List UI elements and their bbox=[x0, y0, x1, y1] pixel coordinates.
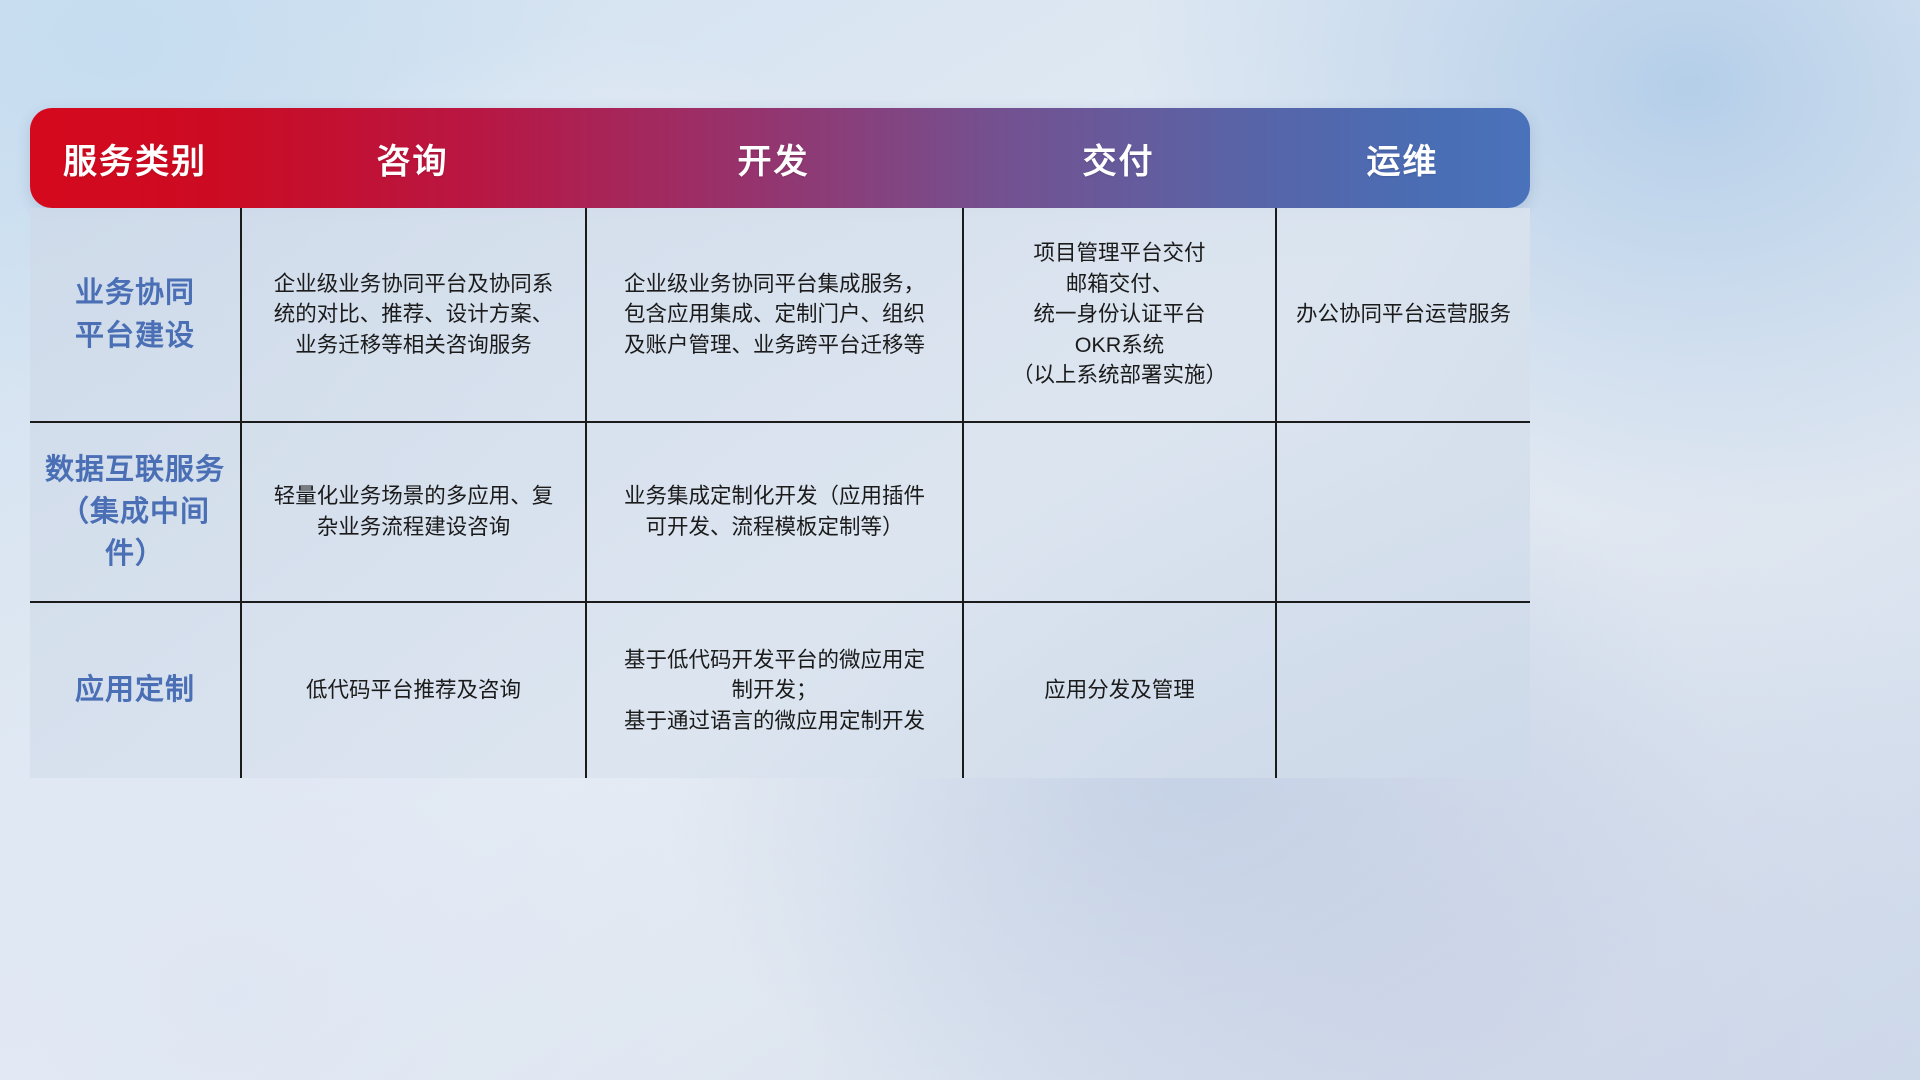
row-category-label: 应用定制 bbox=[30, 603, 240, 778]
cell-development: 企业级业务协同平台集成服务， 包含应用集成、定制门户、组织 及账户管理、业务跨平… bbox=[585, 208, 962, 421]
cell-delivery: 应用分发及管理 bbox=[962, 603, 1275, 778]
cell-delivery: 项目管理平台交付 邮箱交付、 统一身份认证平台 OKR系统 （以上系统部署实施） bbox=[962, 208, 1275, 421]
cell-delivery bbox=[962, 423, 1275, 601]
table-row: 数据互联服务 （集成中间件） 轻量化业务场景的多应用、复 杂业务流程建设咨询 业… bbox=[30, 421, 1530, 601]
column-header-delivery: 交付 bbox=[962, 108, 1275, 208]
table-header-row: 服务类别 咨询 开发 交付 运维 bbox=[30, 108, 1530, 208]
column-header-category: 服务类别 bbox=[30, 108, 240, 208]
table-body: 业务协同 平台建设 企业级业务协同平台及协同系 统的对比、推荐、设计方案、 业务… bbox=[30, 208, 1530, 778]
cell-consulting: 轻量化业务场景的多应用、复 杂业务流程建设咨询 bbox=[240, 423, 585, 601]
cell-consulting: 企业级业务协同平台及协同系 统的对比、推荐、设计方案、 业务迁移等相关咨询服务 bbox=[240, 208, 585, 421]
cell-operations: 办公协同平台运营服务 bbox=[1275, 208, 1530, 421]
table-row: 应用定制 低代码平台推荐及咨询 基于低代码开发平台的微应用定 制开发； 基于通过… bbox=[30, 601, 1530, 778]
cell-operations bbox=[1275, 603, 1530, 778]
cell-development: 业务集成定制化开发（应用插件 可开发、流程模板定制等） bbox=[585, 423, 962, 601]
column-header-consulting: 咨询 bbox=[240, 108, 585, 208]
service-matrix-table: 服务类别 咨询 开发 交付 运维 业务协同 平台建设 企业级业务协同平台及协同系… bbox=[30, 108, 1530, 778]
row-category-label: 数据互联服务 （集成中间件） bbox=[30, 423, 240, 601]
table-row: 业务协同 平台建设 企业级业务协同平台及协同系 统的对比、推荐、设计方案、 业务… bbox=[30, 208, 1530, 421]
cell-consulting: 低代码平台推荐及咨询 bbox=[240, 603, 585, 778]
row-category-label: 业务协同 平台建设 bbox=[30, 208, 240, 421]
cell-development: 基于低代码开发平台的微应用定 制开发； 基于通过语言的微应用定制开发 bbox=[585, 603, 962, 778]
column-header-development: 开发 bbox=[585, 108, 962, 208]
column-header-operations: 运维 bbox=[1275, 108, 1530, 208]
cell-operations bbox=[1275, 423, 1530, 601]
